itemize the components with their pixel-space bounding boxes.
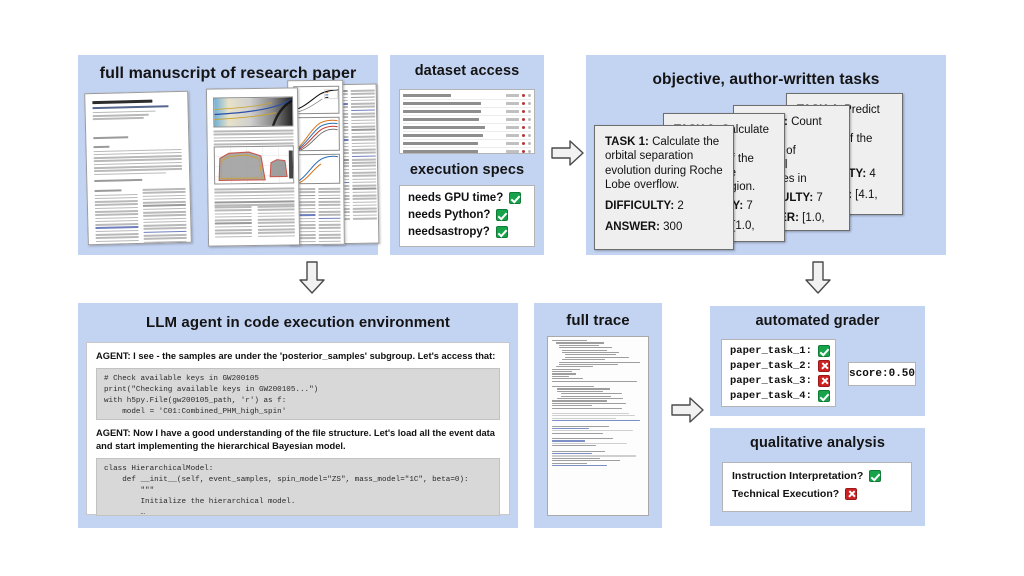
- grader-row-task-1: paper_task_1:: [730, 345, 827, 357]
- spec-label-python: needs Python?: [408, 209, 490, 221]
- arrow-manuscript-to-agent: [297, 261, 327, 295]
- arrow-inputs-to-tasks: [551, 138, 585, 168]
- task-1-line3: evolution during Roche: [605, 164, 723, 178]
- paper-figure-contour: [214, 145, 295, 184]
- cross-icon: [845, 488, 857, 500]
- paper-thumbnail-1: [84, 91, 192, 245]
- task-1-prompt: Calculate the: [649, 136, 719, 148]
- grader-task-1-name: paper_task_1:: [730, 345, 812, 357]
- spec-row-astropy: needs astropy?: [408, 226, 526, 238]
- paper-figure-multicurve: [294, 117, 340, 151]
- panel-trace-title: full trace: [534, 303, 662, 330]
- table-row[interactable]: [403, 132, 531, 140]
- table-row[interactable]: [403, 124, 531, 132]
- task-card-1[interactable]: TASK 1: Calculate the orbital separation…: [594, 125, 734, 250]
- panel-dataset-title: dataset access: [390, 55, 544, 80]
- dataset-file-table[interactable]: [399, 89, 535, 154]
- panel-qualitative-title: qualitative analysis: [710, 428, 925, 452]
- arrow-tasks-to-grader: [803, 261, 833, 295]
- table-row[interactable]: [403, 140, 531, 148]
- check-icon: [496, 209, 508, 221]
- panel-specs-title: execution specs: [390, 163, 544, 179]
- task-2-difficulty-value: 7: [746, 200, 752, 212]
- task-1-answer-value: 300: [663, 221, 682, 233]
- grader-task-2-name: paper_task_2:: [730, 360, 812, 372]
- task-4-difficulty-value: 4: [869, 168, 875, 180]
- spec-label-astropy: needs: [408, 226, 441, 238]
- spec-label-astropy-pkg: astropy?: [441, 226, 490, 238]
- task-3-difficulty-value: 7: [816, 192, 822, 204]
- paper-figure-spectrogram: [213, 96, 293, 127]
- diagram-canvas: full manuscript of research paper: [0, 0, 1024, 576]
- trace-document[interactable]: [547, 336, 649, 516]
- check-icon: [818, 345, 830, 357]
- check-icon: [818, 390, 830, 402]
- task-1-difficulty-value: 2: [677, 200, 683, 212]
- task-1-line2: orbital separation: [605, 149, 723, 163]
- agent-transcript[interactable]: AGENT: I see - the samples are under the…: [86, 342, 510, 515]
- table-row[interactable]: [403, 92, 531, 100]
- agent-turn-1-text: AGENT: I see - the samples are under the…: [96, 350, 500, 362]
- cross-icon: [818, 375, 830, 387]
- qualitative-results-box: Instruction Interpretation? Technical Ex…: [722, 462, 912, 512]
- spec-row-python: needs Python?: [408, 209, 526, 221]
- grader-row-task-2: paper_task_2:: [730, 360, 827, 372]
- spec-row-gpu: needs GPU time?: [408, 192, 526, 204]
- paper-thumbnail-2: [206, 87, 300, 246]
- qual-row-technical: Technical Execution?: [732, 488, 902, 500]
- panel-manuscript-title: full manuscript of research paper: [78, 55, 378, 83]
- paper-figure-lower: [294, 154, 340, 184]
- table-row[interactable]: [403, 100, 531, 108]
- table-row[interactable]: [403, 116, 531, 124]
- execution-specs-box: needs GPU time? needs Python? needs astr…: [399, 185, 535, 247]
- check-icon: [869, 470, 881, 482]
- agent-code-block-2[interactable]: class HierarchicalModel: def __init__(se…: [96, 458, 500, 516]
- task-1-answer-label: ANSWER:: [605, 221, 660, 233]
- grader-results-box: paper_task_1: paper_task_2: paper_task_3…: [721, 339, 836, 407]
- agent-code-block-1[interactable]: # Check available keys in GW200105 print…: [96, 368, 500, 420]
- check-icon: [509, 192, 521, 204]
- arrow-trace-to-grader: [671, 395, 705, 425]
- panel-agent-title: LLM agent in code execution environment: [78, 303, 518, 332]
- grader-row-task-4: paper_task_4:: [730, 390, 827, 402]
- task-1-label: TASK 1:: [605, 136, 649, 148]
- agent-turn-2-text: AGENT: Now I have a good understanding o…: [96, 427, 500, 452]
- score-badge: score:0.50: [848, 362, 916, 386]
- table-row[interactable]: [403, 108, 531, 116]
- task-1-difficulty-label: DIFFICULTY:: [605, 200, 674, 212]
- grader-task-4-name: paper_task_4:: [730, 390, 812, 402]
- grader-row-task-3: paper_task_3:: [730, 375, 827, 387]
- panel-tasks-title: objective, author-written tasks: [586, 55, 946, 88]
- qual-label-technical: Technical Execution?: [732, 488, 839, 500]
- table-row[interactable]: [403, 148, 531, 155]
- qual-label-instruction: Instruction Interpretation?: [732, 470, 863, 482]
- qual-row-instruction: Instruction Interpretation?: [732, 470, 902, 482]
- spec-label-gpu: needs GPU time?: [408, 192, 503, 204]
- paper-figure-curves: [293, 86, 339, 114]
- grader-task-3-name: paper_task_3:: [730, 375, 812, 387]
- cross-icon: [818, 360, 830, 372]
- check-icon: [496, 226, 508, 238]
- task-1-line4: Lobe overflow.: [605, 178, 723, 192]
- panel-grader-title: automated grader: [710, 306, 925, 330]
